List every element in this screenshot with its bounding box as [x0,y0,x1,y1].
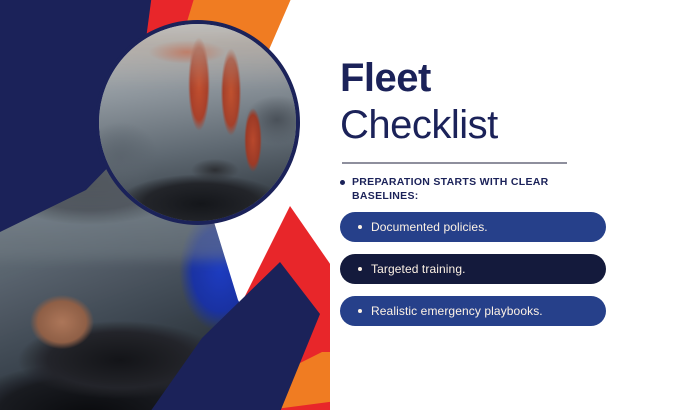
content-panel: Fleet Checklist PREPARATION STARTS WITH … [340,0,684,410]
bullet-dot-icon [358,267,362,271]
bullet-dot-icon [358,225,362,229]
list-item[interactable]: Targeted training. [340,254,606,284]
title-line-two: Checklist [340,102,640,148]
circle-photo-image [95,20,300,225]
kicker-heading-label: PREPARATION STARTS WITH CLEAR BASELINES: [352,175,590,203]
left-visual-collage [0,0,330,410]
list-item[interactable]: Documented policies. [340,212,606,242]
list-item-label: Documented policies. [371,220,488,234]
circle-photo-inset [95,20,300,225]
page-title: Fleet Checklist [340,56,640,148]
list-item-label: Targeted training. [371,262,466,276]
checklist-items: Documented policies. Targeted training. … [340,212,606,338]
bullet-dot-icon [340,180,345,185]
title-line-one: Fleet [340,56,640,100]
list-item-label: Realistic emergency playbooks. [371,304,543,318]
poster-canvas: Fleet Checklist PREPARATION STARTS WITH … [0,0,684,410]
list-item[interactable]: Realistic emergency playbooks. [340,296,606,326]
bullet-dot-icon [358,309,362,313]
kicker-heading: PREPARATION STARTS WITH CLEAR BASELINES: [340,175,590,203]
title-divider [342,162,567,164]
circle-photo-highlight [95,20,300,88]
